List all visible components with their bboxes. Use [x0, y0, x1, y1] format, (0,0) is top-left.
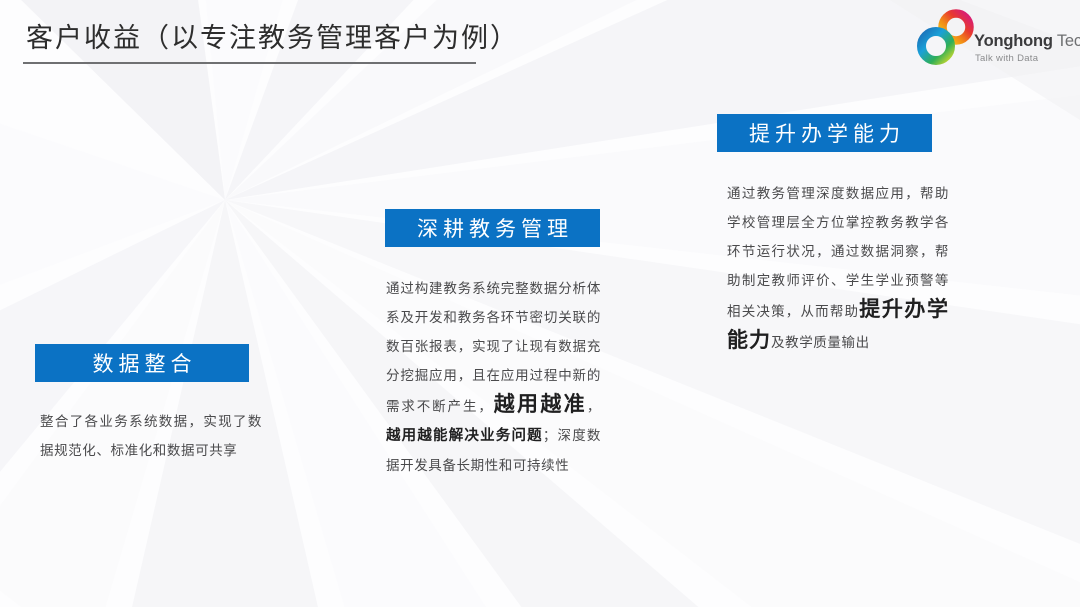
- title-underline-rule: [23, 62, 476, 64]
- logo-tagline: Talk with Data: [975, 53, 1038, 64]
- brand-logo: Yonghong Tech Talk with Data: [916, 9, 1068, 71]
- body-text-deep-academic-management: 通过构建教务系统完整数据分析体系及开发和教务各环节密切关联的数百张报表，实现了让…: [386, 274, 601, 480]
- body-text-run: 越用越能解决业务问题: [386, 428, 543, 444]
- logo-name-text: Yonghong: [974, 32, 1053, 50]
- body-text-run: ，: [587, 399, 601, 414]
- heading-box-improve-school-capability: 提升办学能力: [717, 114, 932, 152]
- two-overlapping-rings-icon: [916, 9, 978, 65]
- body-text-run: 及教学质量输出: [771, 335, 870, 350]
- heading-box-data-integration: 数据整合: [35, 344, 249, 382]
- logo-subword-text: Tech: [1053, 32, 1080, 50]
- body-text-improve-school-capability: 通过教务管理深度数据应用，帮助学校管理层全方位掌控教务教学各环节运行状况，通过数…: [727, 179, 949, 357]
- body-text-run: 越用越准: [494, 392, 587, 416]
- body-text-data-integration: 整合了各业务系统数据，实现了数据规范化、标准化和数据可共享: [40, 407, 262, 465]
- heading-box-deep-academic-management: 深耕教务管理: [385, 209, 600, 247]
- body-text-run: 整合了各业务系统数据，实现了数据规范化、标准化和数据可共享: [40, 414, 262, 458]
- logo-wordmark: Yonghong Tech: [974, 33, 1080, 50]
- slide-canvas: 客户收益（以专注教务管理客户为例）: [0, 0, 1080, 607]
- page-title: 客户收益（以专注教务管理客户为例）: [26, 16, 519, 55]
